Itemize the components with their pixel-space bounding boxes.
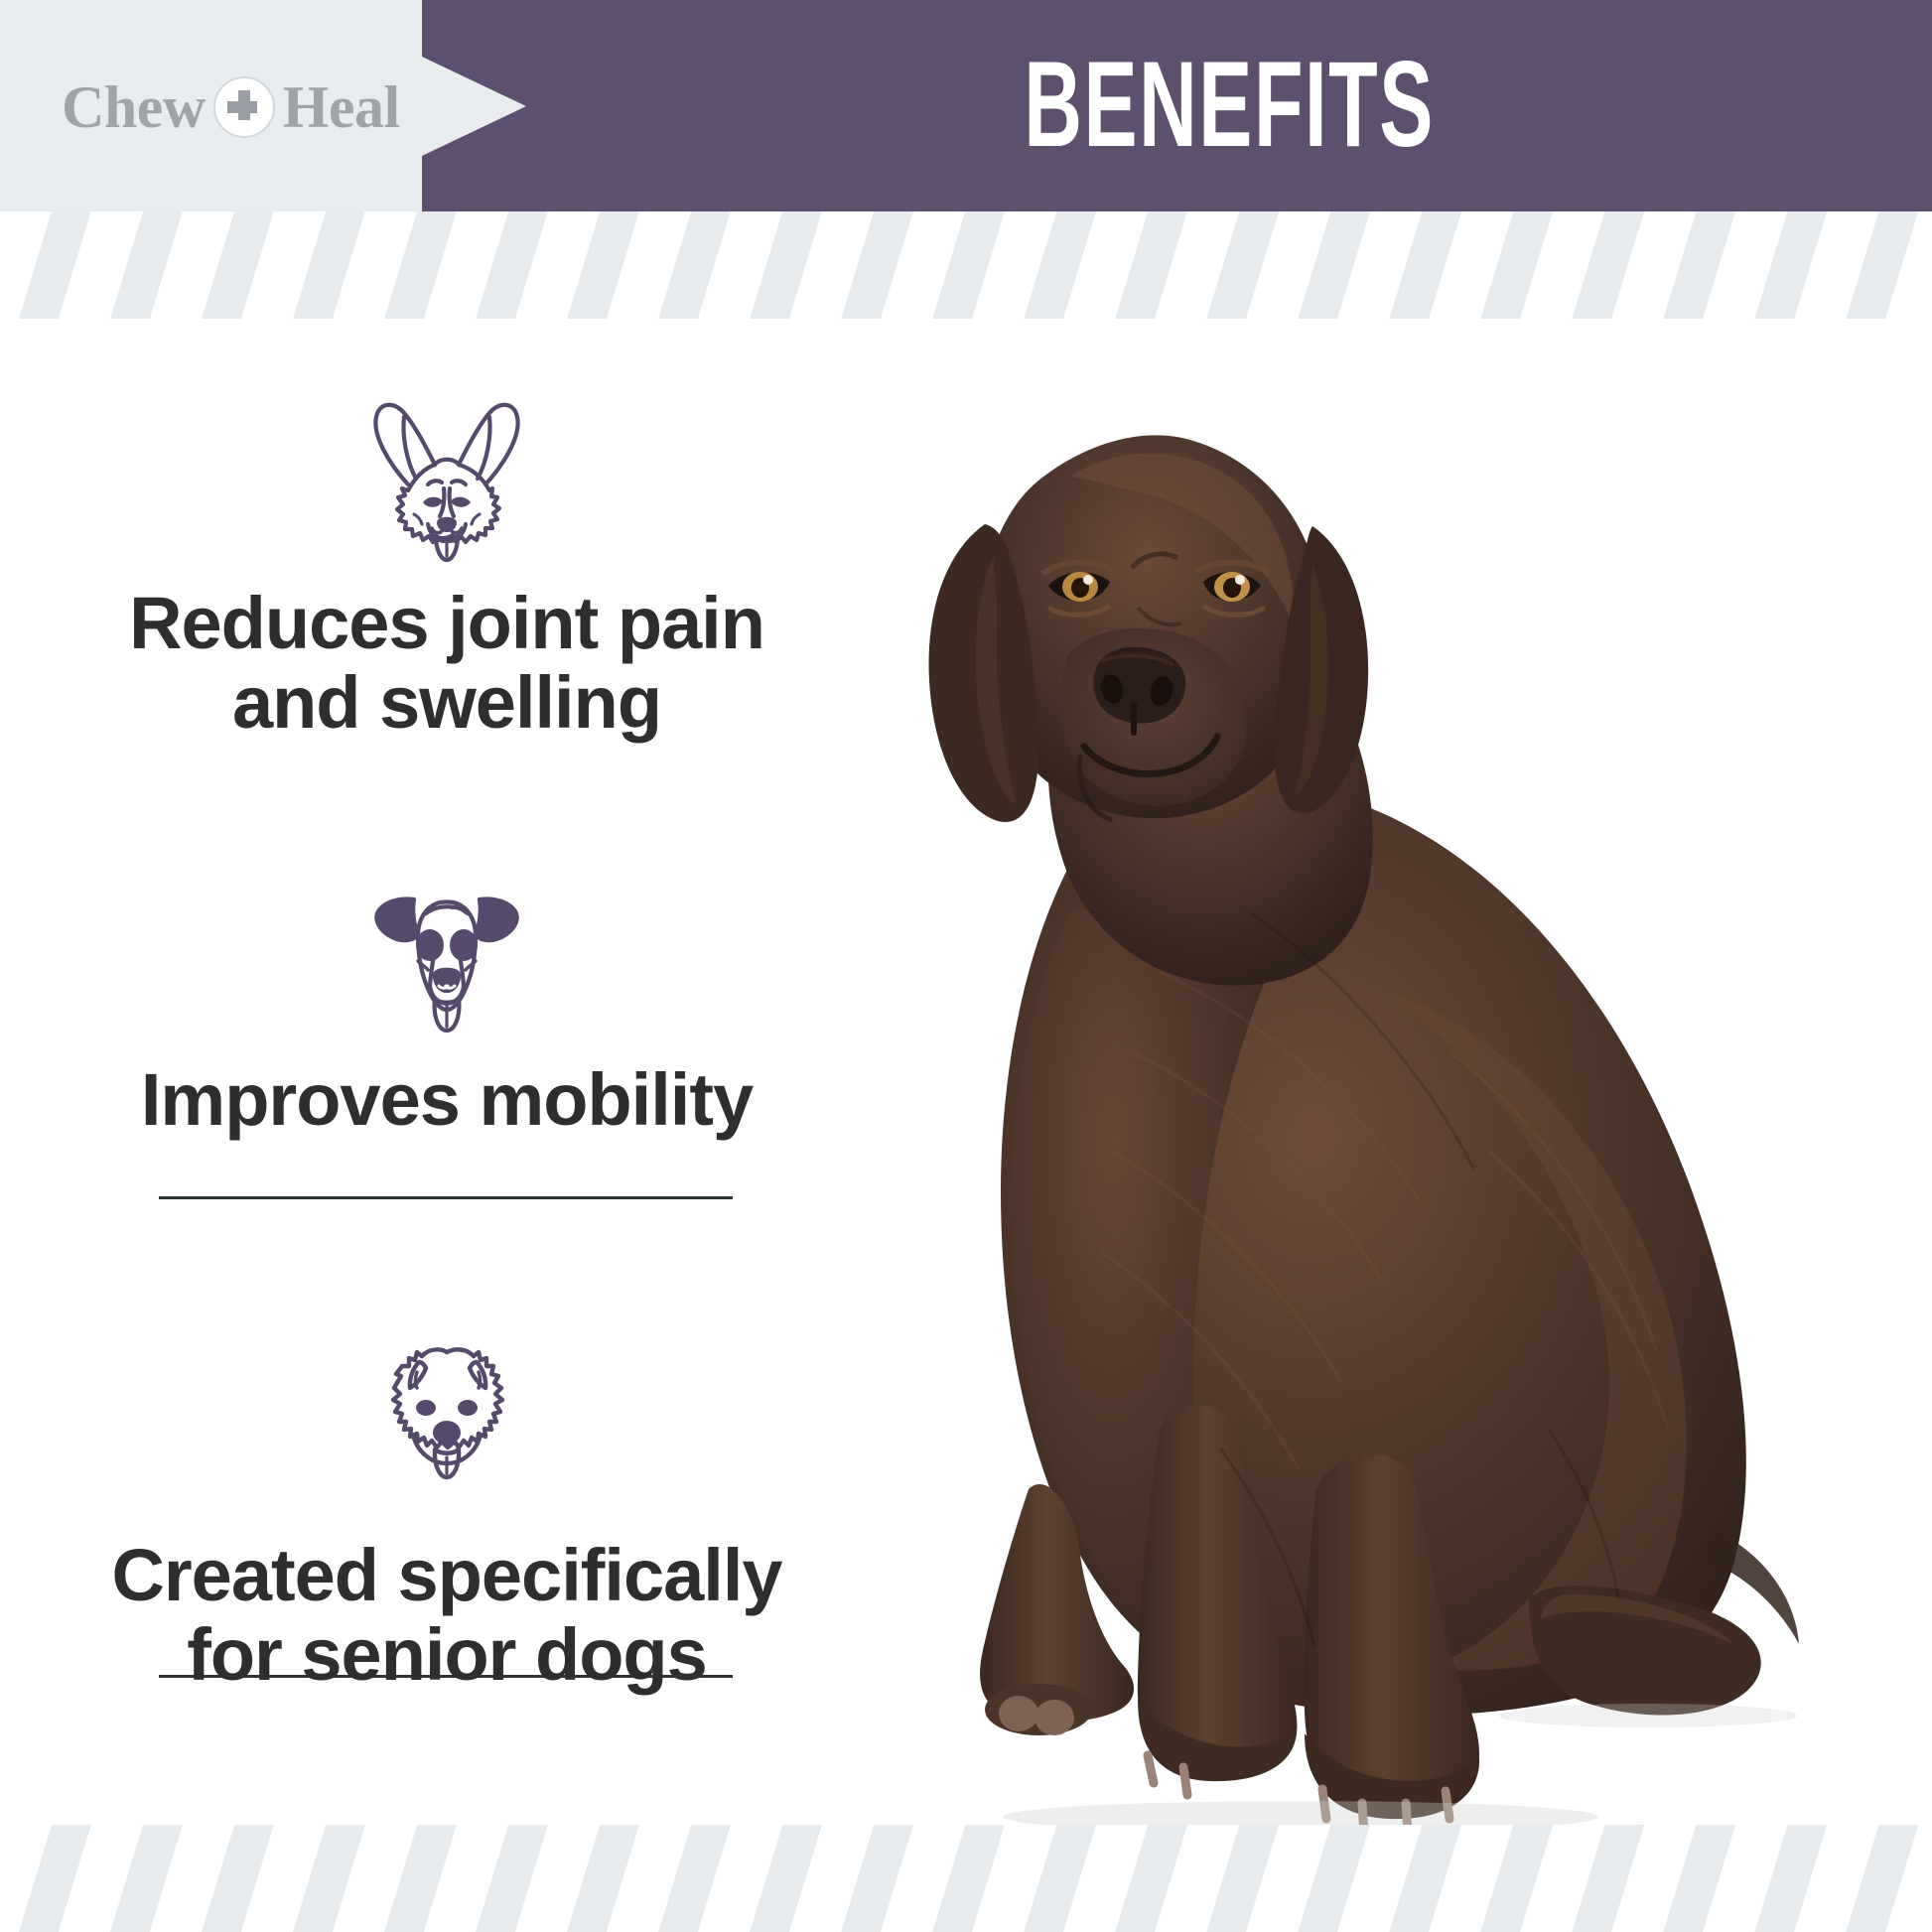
brand-logo[interactable]: Chew Heal — [62, 71, 400, 143]
infographic-canvas: Chew Heal BENEFITS — [0, 0, 1932, 1932]
page-title: BENEFITS — [526, 0, 1932, 211]
plus-in-circle-icon — [213, 76, 275, 138]
page-title-text: BENEFITS — [1024, 36, 1435, 175]
horizontal-divider-1 — [159, 1196, 733, 1199]
diagonal-stripe-band-top — [0, 211, 1932, 319]
chocolate-labrador-sitting-photo — [834, 357, 1847, 1837]
benefit-item-3: Created specifically for senior dogs — [0, 1325, 894, 1695]
logo-word-chew: Chew — [62, 77, 206, 137]
benefit-item-2: Improves mobility — [0, 854, 894, 1140]
samoyed-dog-face-icon — [0, 1325, 894, 1514]
header-banner: Chew Heal BENEFITS — [0, 0, 1932, 211]
terrier-dog-face-icon — [0, 854, 894, 1042]
benefit-label-1: Reduces joint pain and swelling — [89, 584, 804, 743]
logo-word-heal: Heal — [283, 77, 400, 137]
diagonal-stripe-band-bottom — [0, 1825, 1932, 1932]
benefit-label-3: Created specifically for senior dogs — [60, 1536, 834, 1695]
benefit-label-2: Improves mobility — [139, 1060, 755, 1140]
corgi-dog-face-icon — [0, 377, 894, 566]
benefit-item-1: Reduces joint pain and swelling — [0, 377, 894, 743]
